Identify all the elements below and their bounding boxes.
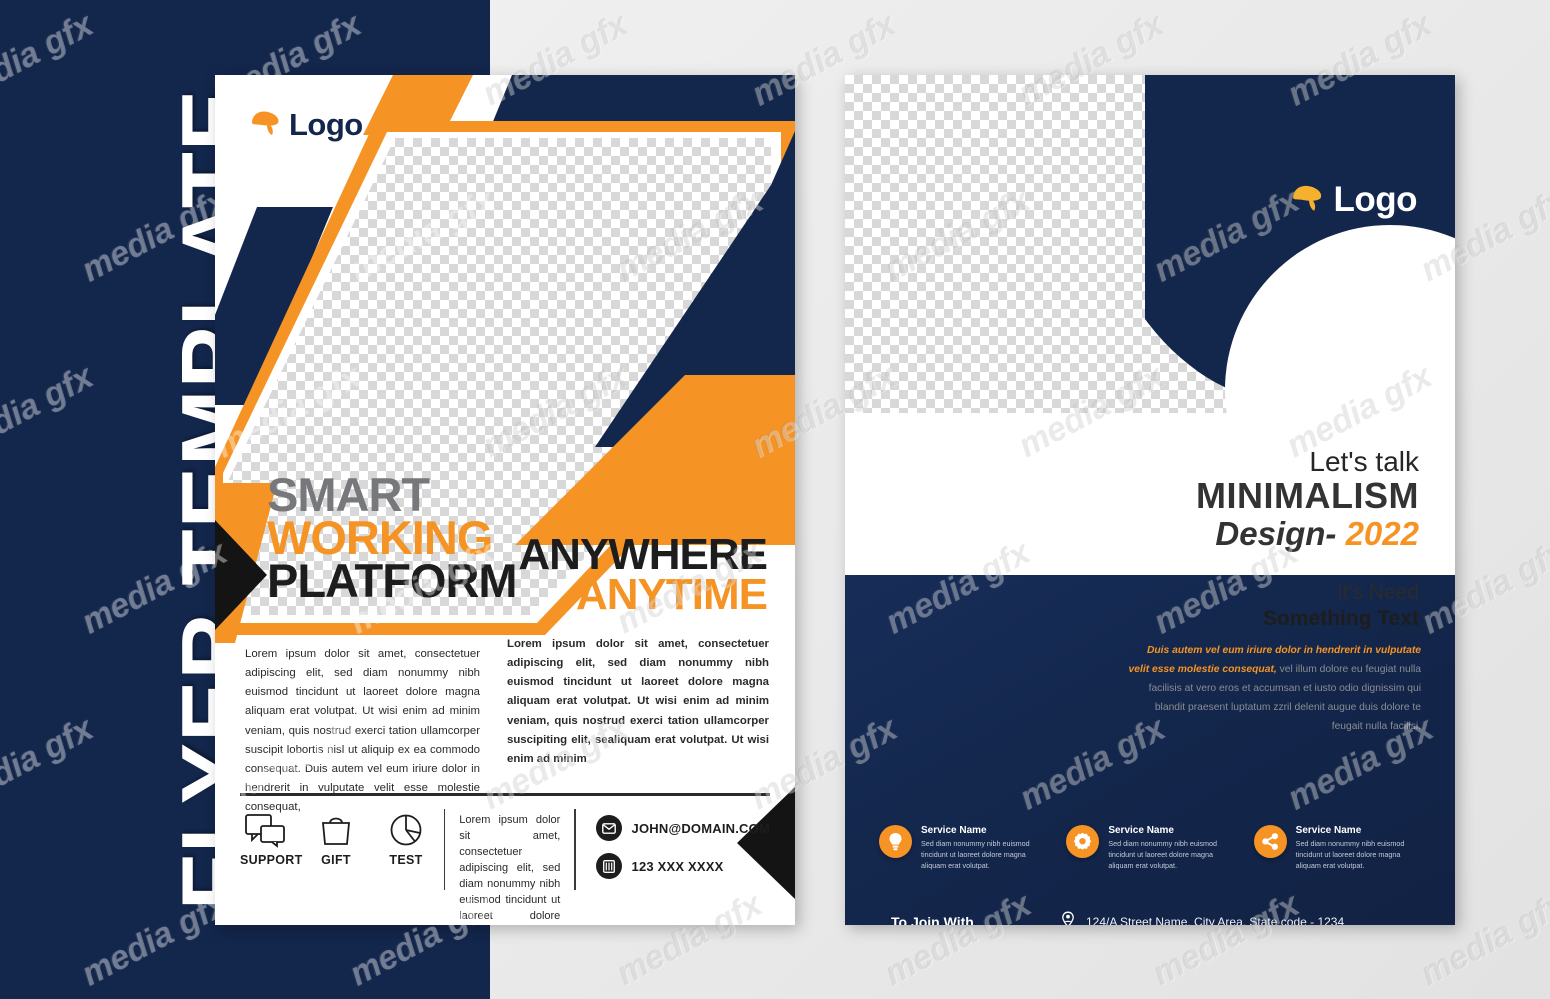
back-service-name: Service Name: [921, 825, 1052, 836]
flyer-back-page: Logo Let's talk MINIMALISM Design- 2022 …: [845, 75, 1455, 925]
logo-mark-icon: [250, 109, 284, 142]
phone-keypad-icon: [596, 853, 622, 879]
front-footer-vdivider-2: [574, 809, 575, 890]
front-heading-right-line1: ANYWHERE: [518, 535, 767, 575]
back-logo-text: Logo: [1333, 180, 1417, 220]
front-feature-label: GIFT: [312, 853, 360, 867]
front-footer-divider: [240, 793, 770, 796]
front-heading: SMART WORKING PLATFORM: [267, 473, 517, 603]
front-logo[interactable]: Logo: [250, 107, 363, 143]
shopping-bag-icon: [312, 813, 360, 847]
back-join-block: To Join With Our Community: [891, 913, 997, 925]
front-footer-text: Lorem ipsum dolor sit amet, consectetuer…: [459, 805, 560, 900]
poster-canvas: FLYER TEMPLATE Logo SMART WOR: [0, 0, 1550, 999]
back-service-name: Service Name: [1108, 825, 1239, 836]
front-contact-list: JOHN@DOMAIN.COM 123 XXX XXXX: [590, 805, 770, 900]
front-feature-test[interactable]: TEST: [382, 813, 430, 867]
chat-bubbles-icon: [240, 813, 290, 847]
back-join-line1: To Join With: [891, 913, 997, 925]
back-contact-list: 124/A Street Name, City Area, State code…: [1060, 911, 1404, 925]
front-feature-label: TEST: [382, 853, 430, 867]
back-service-desc: Sed diam nonummy nibh euismod tincidunt …: [921, 839, 1052, 871]
back-service-list: Service Name Sed diam nonummy nibh euism…: [879, 825, 1427, 871]
front-body-left: Lorem ipsum dolor sit amet, consectetuer…: [245, 645, 480, 817]
front-feature-list: SUPPORT GIFT: [240, 805, 430, 900]
lightbulb-icon: [879, 825, 912, 858]
back-service-name: Service Name: [1296, 825, 1427, 836]
front-feature-label: SUPPORT: [240, 853, 290, 867]
front-feature-support[interactable]: SUPPORT: [240, 813, 290, 867]
back-contact-address[interactable]: 124/A Street Name, City Area, State code…: [1060, 911, 1404, 925]
back-heading-design: Design-: [1215, 515, 1345, 552]
back-contact-address-text: 124/A Street Name, City Area, State code…: [1086, 915, 1344, 925]
share-icon: [1254, 825, 1287, 858]
back-subheading: It's Need Something Text: [1263, 580, 1419, 633]
gear-icon: [1066, 825, 1099, 858]
location-pin-icon: [1060, 911, 1076, 925]
back-heading-design-row: Design- 2022: [1196, 516, 1419, 552]
back-service-item[interactable]: Service Name Sed diam nonummy nibh euism…: [1254, 825, 1427, 871]
front-body-right: Lorem ipsum dolor sit amet, consectetuer…: [507, 635, 769, 769]
front-heading-right-line2: ANYTIME: [518, 575, 767, 615]
front-heading-line1: SMART: [267, 473, 517, 516]
back-service-desc: Sed diam nonummy nibh euismod tincidunt …: [1296, 839, 1427, 871]
front-footer: SUPPORT GIFT: [240, 805, 770, 900]
back-subheading-line1: It's Need: [1263, 580, 1419, 606]
back-service-item[interactable]: Service Name Sed diam nonummy nibh euism…: [1066, 825, 1239, 871]
back-heading-minimalism: MINIMALISM: [1196, 477, 1419, 516]
front-logo-text: Logo: [289, 107, 363, 143]
back-heading-year: 2022: [1346, 515, 1419, 552]
flyer-front-page: Logo SMART WORKING PLATFORM ANYWHERE ANY…: [215, 75, 795, 925]
back-logo[interactable]: Logo: [1291, 180, 1417, 220]
logo-mark-icon: [1291, 183, 1327, 218]
front-feature-gift[interactable]: GIFT: [312, 813, 360, 867]
front-footer-vdivider-1: [444, 809, 445, 890]
front-contact-phone[interactable]: 123 XXX XXXX: [596, 853, 770, 879]
envelope-icon: [596, 815, 622, 841]
back-service-desc: Sed diam nonummy nibh euismod tincidunt …: [1108, 839, 1239, 871]
back-paragraph: Duis autem vel eum iriure dolor in hendr…: [1125, 641, 1421, 736]
front-heading-line3: PLATFORM: [267, 559, 517, 602]
back-heading-lets-talk: Let's talk: [1196, 447, 1419, 477]
front-contact-phone-text: 123 XXX XXXX: [632, 859, 724, 874]
pie-chart-icon: [382, 813, 430, 847]
front-contact-email[interactable]: JOHN@DOMAIN.COM: [596, 815, 770, 841]
back-service-item[interactable]: Service Name Sed diam nonummy nibh euism…: [879, 825, 1052, 871]
front-heading-right: ANYWHERE ANYTIME: [518, 535, 767, 616]
back-subheading-line2: Something Text: [1263, 606, 1419, 632]
front-contact-email-text: JOHN@DOMAIN.COM: [632, 821, 770, 836]
front-heading-line2: WORKING: [267, 516, 517, 559]
back-heading: Let's talk MINIMALISM Design- 2022: [1196, 447, 1419, 552]
